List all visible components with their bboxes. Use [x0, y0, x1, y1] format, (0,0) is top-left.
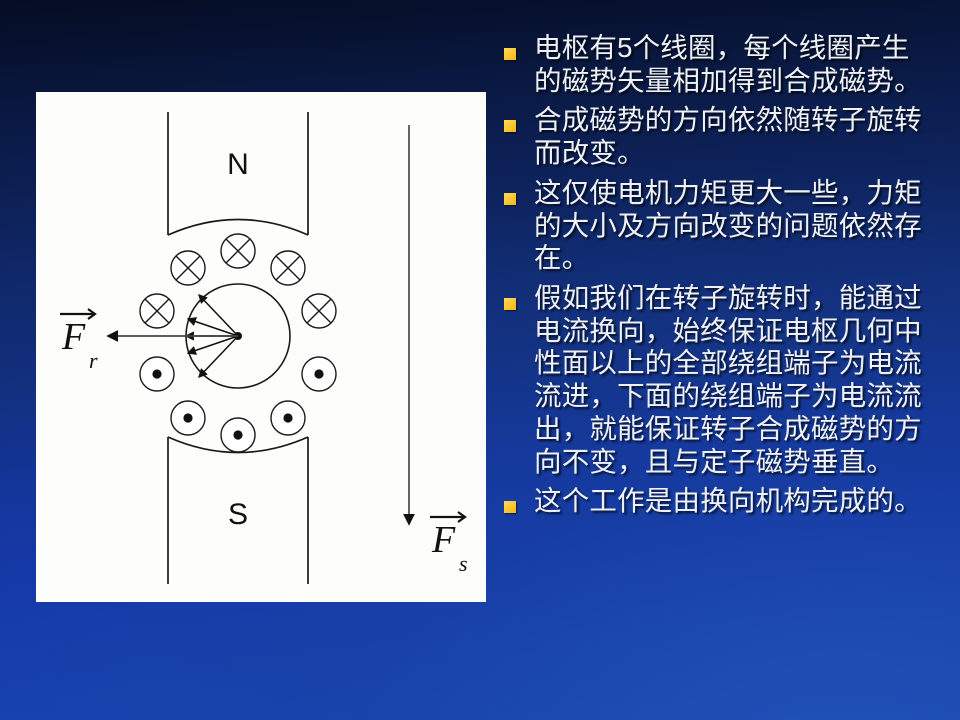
- bullet-item: 这仅使电机力矩更大一些，力矩的大小及方向改变的问题依然存在。: [504, 177, 934, 275]
- bullet-text: 假如我们在转子旋转时，能通过电流换向，始终保证电枢几何中性面以上的全部绕组端子为…: [534, 282, 934, 478]
- dc-machine-mmf-diagram: N S: [36, 92, 486, 602]
- svg-text:r: r: [89, 348, 98, 373]
- current-out-of-page-icon: [140, 357, 174, 391]
- current-out-of-page-icon: [271, 401, 305, 435]
- south-pole-piece: S: [168, 437, 308, 584]
- diagram-canvas: N S: [36, 92, 486, 602]
- current-out-of-page-icon: [302, 357, 336, 391]
- north-pole-piece: N: [168, 112, 308, 235]
- current-into-page-icon: [271, 251, 305, 285]
- square-bullet-icon: [504, 193, 516, 205]
- presentation-slide: N S: [0, 0, 960, 720]
- current-out-of-page-icon: [171, 401, 205, 435]
- stator-mmf-label: F s: [430, 512, 468, 576]
- square-bullet-icon: [504, 48, 516, 60]
- bullet-item: 假如我们在转子旋转时，能通过电流换向，始终保证电枢几何中性面以上的全部绕组端子为…: [504, 282, 934, 478]
- current-into-page-icon: [140, 294, 174, 328]
- current-into-page-icon: [302, 294, 336, 328]
- bullet-list: 电枢有5个线圈，每个线圈产生的磁势矢量相加得到合成磁势。 合成磁势的方向依然随转…: [504, 32, 934, 525]
- rotor-mmf-label: F r: [60, 309, 98, 373]
- current-out-of-page-icon: [221, 418, 255, 452]
- current-into-page-icon: [171, 251, 205, 285]
- svg-text:F: F: [61, 316, 86, 358]
- conductor-group-into-page: [140, 234, 336, 328]
- bullet-text: 这仅使电机力矩更大一些，力矩的大小及方向改变的问题依然存在。: [534, 177, 934, 275]
- bullet-text: 合成磁势的方向依然随转子旋转而改变。: [534, 104, 934, 169]
- square-bullet-icon: [504, 120, 516, 132]
- bullet-text: 这个工作是由换向机构完成的。: [534, 485, 934, 518]
- bullet-item: 合成磁势的方向依然随转子旋转而改变。: [504, 104, 934, 169]
- svg-text:s: s: [459, 551, 468, 576]
- square-bullet-icon: [504, 501, 516, 513]
- bullet-text: 电枢有5个线圈，每个线圈产生的磁势矢量相加得到合成磁势。: [534, 32, 934, 97]
- square-bullet-icon: [504, 298, 516, 310]
- current-into-page-icon: [221, 234, 255, 268]
- north-pole-label: N: [227, 148, 249, 181]
- bullet-item: 电枢有5个线圈，每个线圈产生的磁势矢量相加得到合成磁势。: [504, 32, 934, 97]
- bullet-item: 这个工作是由换向机构完成的。: [504, 485, 934, 518]
- svg-text:F: F: [431, 519, 456, 561]
- south-pole-label: S: [228, 498, 248, 531]
